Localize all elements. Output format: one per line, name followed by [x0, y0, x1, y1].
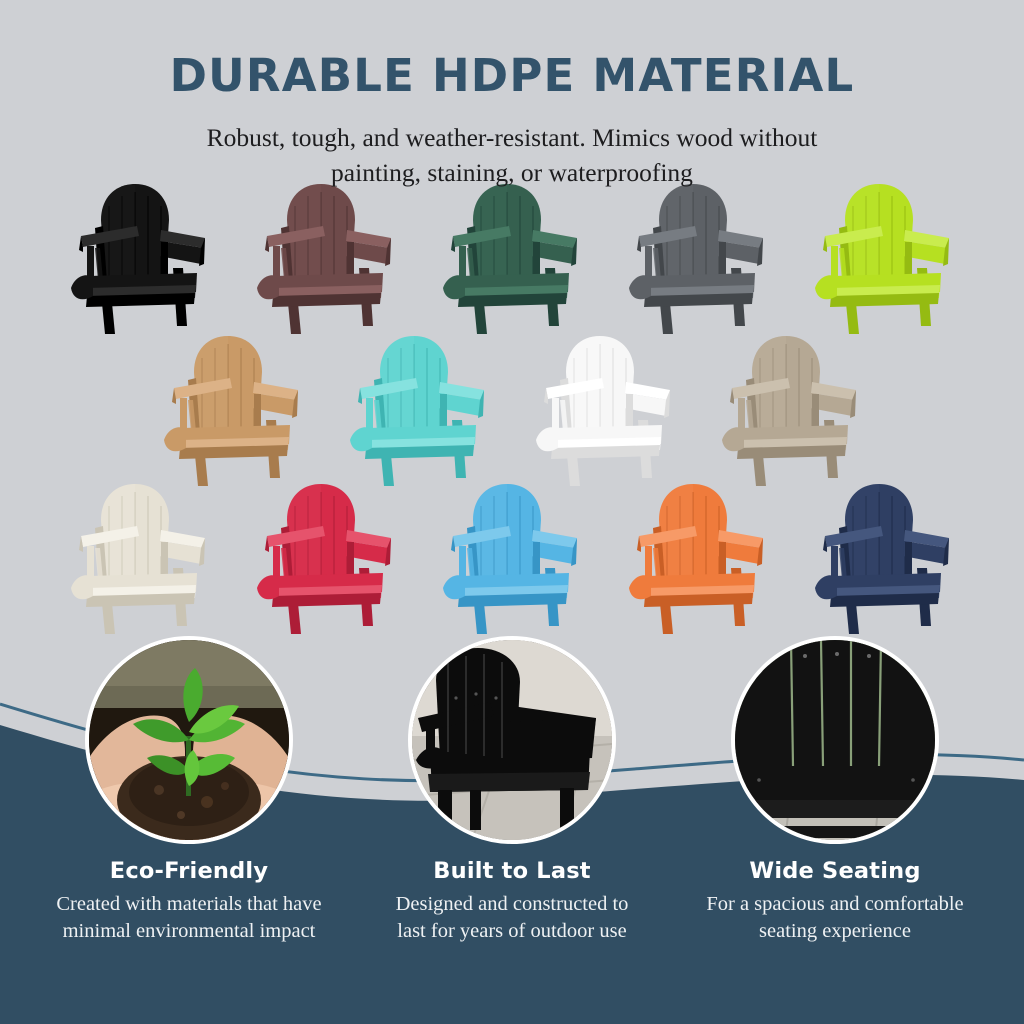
adirondack-chair-teak: [158, 328, 308, 498]
chair-swatch-ivory[interactable]: [47, 496, 233, 646]
feature-desc-line-2: seating experience: [674, 918, 996, 945]
feature-desc-wide-seating: For a spacious and comfortable seating e…: [670, 891, 1000, 944]
adirondack-chair-dark-green: [437, 176, 587, 346]
adirondack-chair-ivory: [65, 476, 215, 646]
chair-row-1: [0, 196, 1024, 346]
infographic-canvas: DURABLE HDPE MATERIAL Robust, tough, and…: [0, 0, 1024, 1024]
feature-title-built-to-last: Built to Last: [347, 858, 677, 884]
chair-color-grid: [0, 196, 1024, 651]
hands-holding-seedling-icon: [89, 640, 289, 840]
feature-row: Eco-Friendly Created with materials that…: [0, 636, 1024, 1024]
adirondack-chair-white: [530, 328, 680, 498]
feature-desc-eco-friendly: Created with materials that have minimal…: [24, 891, 354, 944]
chair-swatch-red[interactable]: [233, 496, 419, 646]
feature-card-built-to-last: Built to Last Designed and constructed t…: [347, 636, 677, 944]
feature-photo-eco-friendly: [85, 636, 293, 844]
feature-card-wide-seating: Wide Seating For a spacious and comforta…: [670, 636, 1000, 944]
black-adirondack-chair-on-patio-icon: [412, 640, 612, 840]
adirondack-chair-orange: [623, 476, 773, 646]
feature-desc-line-2: minimal environmental impact: [28, 918, 350, 945]
feature-photo-wide-seating: [731, 636, 939, 844]
chair-row-3: [0, 496, 1024, 646]
feature-title-wide-seating: Wide Seating: [670, 858, 1000, 884]
feature-card-eco-friendly: Eco-Friendly Created with materials that…: [24, 636, 354, 944]
wide-chair-seat-closeup-icon: [735, 640, 935, 840]
feature-desc-line-1: Created with materials that have: [28, 891, 350, 918]
chair-swatch-navy-blue[interactable]: [791, 496, 977, 646]
adirondack-chair-lime-green: [809, 176, 959, 346]
chair-swatch-orange[interactable]: [605, 496, 791, 646]
adirondack-chair-light-blue: [437, 476, 587, 646]
adirondack-chair-red: [251, 476, 401, 646]
adirondack-chair-brown: [251, 176, 401, 346]
chair-swatch-gray[interactable]: [605, 196, 791, 346]
subtitle-line-2: painting, staining, or waterproofing: [0, 155, 1024, 190]
chair-swatch-dark-green[interactable]: [419, 196, 605, 346]
feature-desc-built-to-last: Designed and constructed to last for yea…: [347, 891, 677, 944]
page-subtitle: Robust, tough, and weather-resistant. Mi…: [0, 120, 1024, 190]
feature-desc-line-1: Designed and constructed to: [351, 891, 673, 918]
header-block: DURABLE HDPE MATERIAL Robust, tough, and…: [0, 0, 1024, 190]
feature-title-eco-friendly: Eco-Friendly: [24, 858, 354, 884]
adirondack-chair-turquoise: [344, 328, 494, 498]
adirondack-chair-weathered-wood: [716, 328, 866, 498]
chair-swatch-black[interactable]: [47, 196, 233, 346]
adirondack-chair-black: [65, 176, 215, 346]
feature-desc-line-2: last for years of outdoor use: [351, 918, 673, 945]
adirondack-chair-navy-blue: [809, 476, 959, 646]
feature-desc-line-1: For a spacious and comfortable: [674, 891, 996, 918]
feature-photo-built-to-last: [408, 636, 616, 844]
subtitle-line-1: Robust, tough, and weather-resistant. Mi…: [0, 120, 1024, 155]
adirondack-chair-gray: [623, 176, 773, 346]
page-title: DURABLE HDPE MATERIAL: [0, 52, 1024, 101]
chair-swatch-brown[interactable]: [233, 196, 419, 346]
chair-swatch-lime-green[interactable]: [791, 196, 977, 346]
chair-swatch-light-blue[interactable]: [419, 496, 605, 646]
